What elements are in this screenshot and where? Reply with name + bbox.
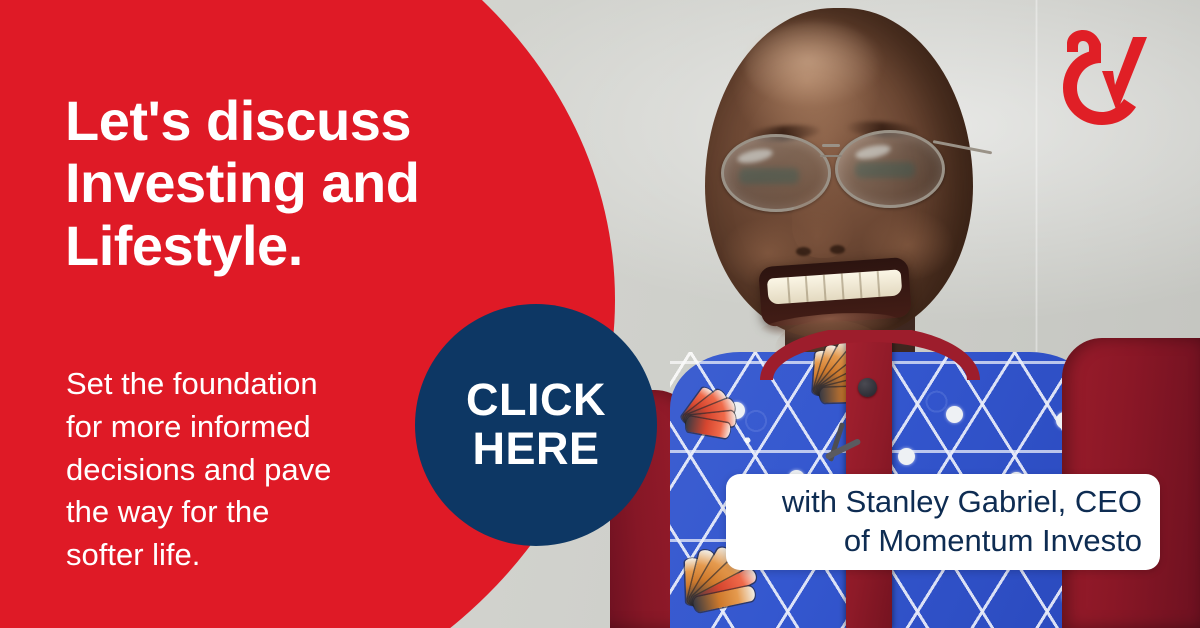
- body-copy: Set the foundation for more informed dec…: [66, 363, 396, 577]
- headline-line-2: Investing and: [65, 152, 495, 215]
- shirt-collar: [760, 330, 980, 380]
- cta-line-1: CLICK: [466, 376, 606, 425]
- nostril-right: [830, 245, 845, 254]
- glasses-temple: [933, 140, 992, 154]
- subcopy-line-5: softer life.: [66, 534, 396, 577]
- lens-tint-right: [855, 162, 915, 178]
- glasses-bridge: [822, 144, 840, 147]
- momentum-logo-icon: [1055, 28, 1155, 130]
- shirt-button-top: [858, 378, 877, 397]
- subcopy-line-2: for more informed: [66, 406, 396, 449]
- subcopy-line-4: the way for the: [66, 491, 396, 534]
- page-title: Let's discuss Investing and Lifestyle.: [65, 90, 495, 278]
- click-here-button[interactable]: CLICK HERE: [415, 304, 657, 546]
- lens-tint-left: [739, 168, 799, 184]
- speaker-caption: with Stanley Gabriel, CEO of Momentum In…: [726, 474, 1160, 570]
- nostril-left: [796, 247, 811, 256]
- headline-line-3: Lifestyle.: [65, 215, 495, 278]
- eyeglasses-icon: [715, 128, 980, 208]
- cta-line-2: HERE: [472, 425, 599, 474]
- scalp-highlight: [745, 22, 885, 108]
- promo-banner: Let's discuss Investing and Lifestyle. S…: [0, 0, 1200, 628]
- subcopy-line-3: decisions and pave: [66, 449, 396, 492]
- glasses-bridge-lower: [820, 155, 842, 157]
- caption-line-1: with Stanley Gabriel, CEO: [782, 482, 1142, 521]
- caption-line-2: of Momentum Investo: [844, 521, 1142, 560]
- headline-line-1: Let's discuss: [65, 90, 495, 153]
- teeth: [767, 269, 902, 304]
- subcopy-line-1: Set the foundation: [66, 363, 396, 406]
